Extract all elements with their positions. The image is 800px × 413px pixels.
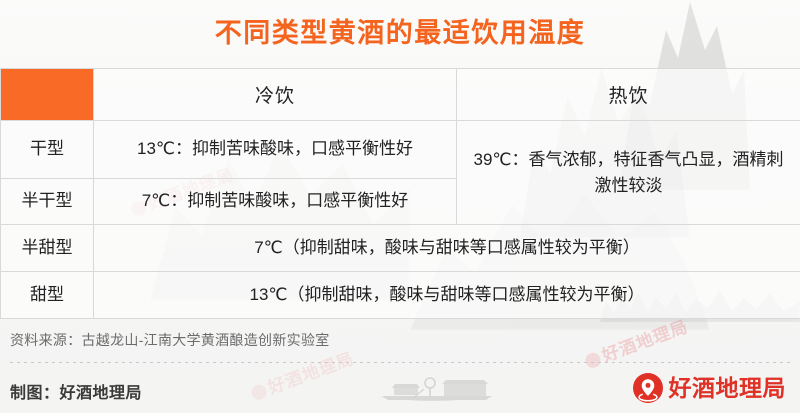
cell-type-semi-dry: 半干型 (1, 179, 94, 225)
brand-name: 好酒地理局 (669, 377, 787, 400)
page-title: 不同类型黄酒的最适饮用温度 (0, 0, 800, 47)
source-note: 资料来源：古越龙山-江南大学黄酒酿造创新实验室 (10, 330, 330, 350)
cell-cold-semi-dry: 7℃：抑制苦味酸味，口感平衡性好 (94, 179, 457, 225)
table-row: 甜型 13℃（抑制甜味，酸味与甜味等口感属性较为平衡） (1, 272, 800, 319)
column-header-hot: 热饮 (457, 69, 800, 121)
cell-merged-semi-sweet: 7℃（抑制甜味，酸味与甜味等口感属性较为平衡） (94, 225, 800, 272)
cell-type-semi-sweet: 半甜型 (1, 225, 94, 272)
infographic-page: 不同类型黄酒的最适饮用温度 冷饮 热饮 干型 13℃：抑制苦味酸味，口感平衡性好… (0, 0, 800, 413)
drinking-temperature-table: 冷饮 热饮 干型 13℃：抑制苦味酸味，口感平衡性好 39℃：香气浓郁，特征香气… (0, 68, 800, 319)
map-pin-icon (633, 373, 663, 403)
cell-type-dry: 干型 (1, 121, 94, 179)
cell-cold-dry: 13℃：抑制苦味酸味，口感平衡性好 (94, 121, 457, 179)
table-header-row: 冷饮 热饮 (1, 69, 800, 121)
footer-divider (10, 362, 790, 363)
column-header-cold: 冷饮 (94, 69, 457, 121)
table-row: 干型 13℃：抑制苦味酸味，口感平衡性好 39℃：香气浓郁，特征香气凸显，酒精刺… (1, 121, 800, 179)
table-body: 干型 13℃：抑制苦味酸味，口感平衡性好 39℃：香气浓郁，特征香气凸显，酒精刺… (1, 121, 800, 319)
cell-type-sweet: 甜型 (1, 272, 94, 319)
table-header: 冷饮 热饮 (1, 69, 800, 121)
column-header-type (1, 69, 94, 121)
table-row: 半甜型 7℃（抑制甜味，酸味与甜味等口感属性较为平衡） (1, 225, 800, 272)
credit-note: 制图：好酒地理局 (10, 379, 142, 403)
cell-hot-merged: 39℃：香气浓郁，特征香气凸显，酒精刺激性较淡 (457, 121, 800, 225)
cell-merged-sweet: 13℃（抑制甜味，酸味与甜味等口感属性较为平衡） (94, 272, 800, 319)
brand-logo: 好酒地理局 (633, 373, 787, 403)
